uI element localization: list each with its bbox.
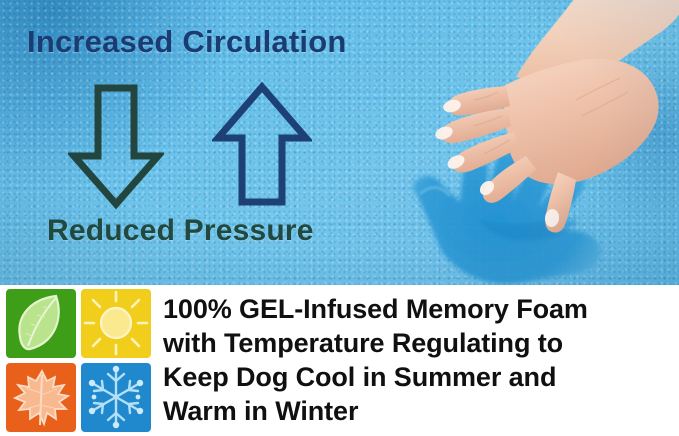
headline-increased-circulation: Increased Circulation bbox=[27, 24, 346, 60]
product-feature-graphic: Increased Circulation Reduced Pressure bbox=[0, 0, 679, 436]
season-tile-summer bbox=[81, 289, 151, 358]
arrow-down-icon bbox=[68, 82, 164, 210]
feature-copy-line-3: Keep Dog Cool in Summer and bbox=[163, 360, 675, 394]
headline-reduced-pressure: Reduced Pressure bbox=[47, 214, 314, 248]
feature-copy-line-1: 100% GEL-Infused Memory Foam bbox=[163, 292, 675, 326]
season-icon-grid bbox=[6, 289, 154, 432]
feature-copy-line-4: Warm in Winter bbox=[163, 394, 675, 428]
sun-icon bbox=[81, 289, 151, 358]
feature-copy-line-2: with Temperature Regulating to bbox=[163, 326, 675, 360]
feature-info-panel: 100% GEL-Infused Memory Foam with Temper… bbox=[0, 285, 679, 436]
season-tile-winter bbox=[81, 363, 151, 432]
leaf-icon bbox=[6, 289, 76, 358]
arrow-up-icon bbox=[212, 82, 312, 208]
maple-leaf-icon bbox=[6, 363, 76, 432]
memory-foam-photo: Increased Circulation Reduced Pressure bbox=[0, 0, 679, 285]
feature-copy-block: 100% GEL-Infused Memory Foam with Temper… bbox=[163, 292, 675, 428]
snowflake-icon bbox=[81, 363, 151, 432]
season-tile-autumn bbox=[6, 363, 76, 432]
season-tile-spring bbox=[6, 289, 76, 358]
